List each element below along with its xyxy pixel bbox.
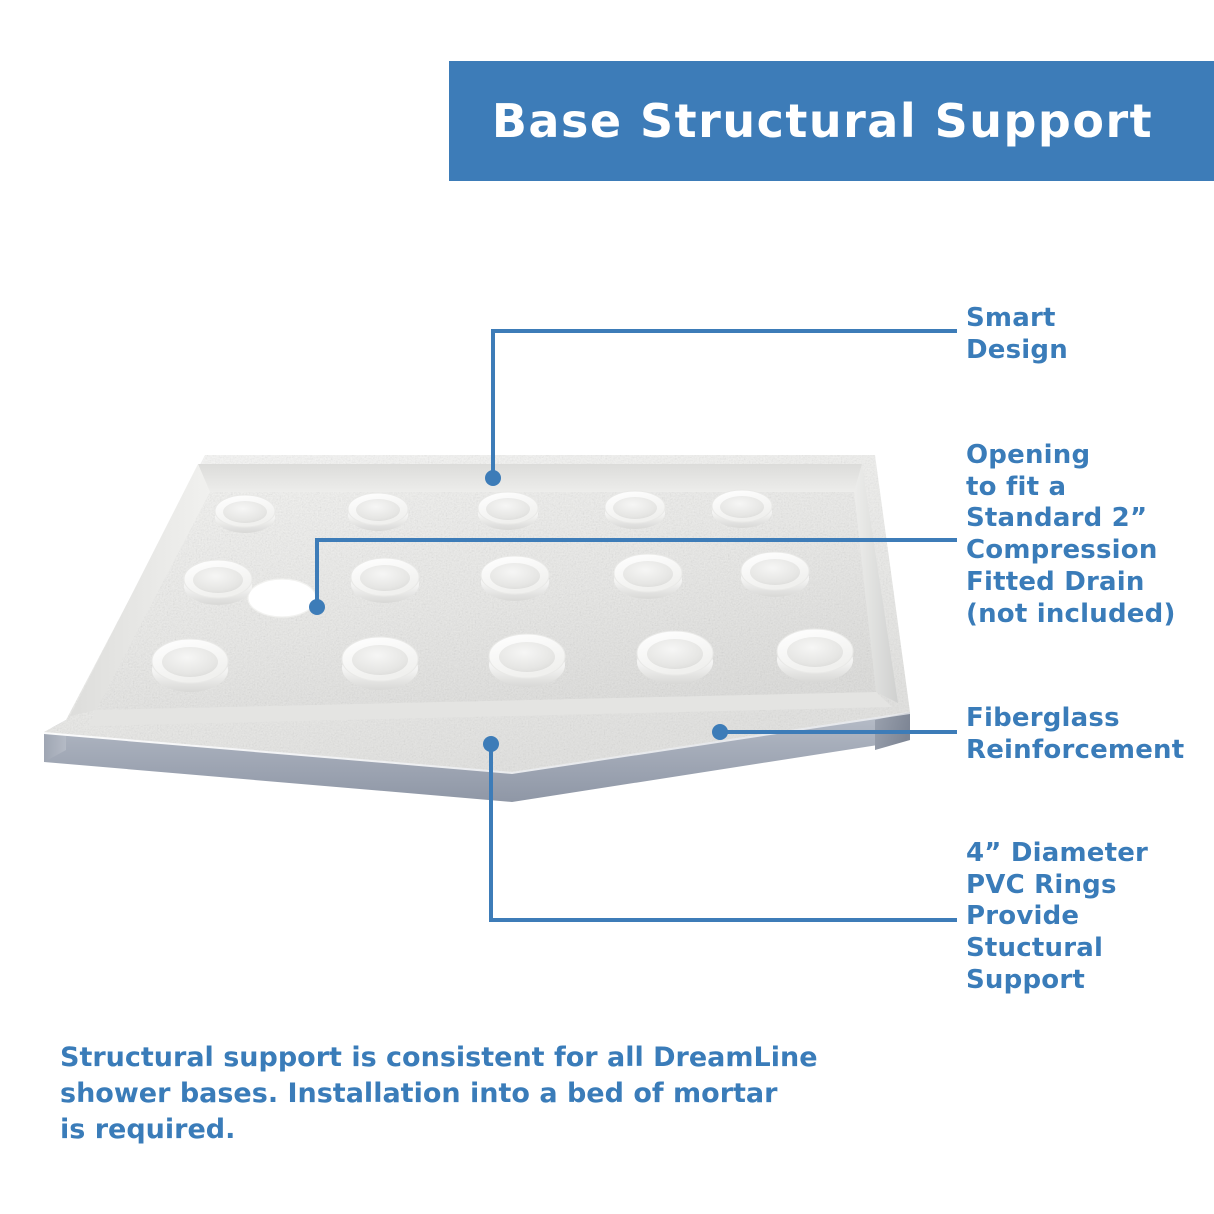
pvc-ring bbox=[741, 552, 809, 597]
pvc-ring bbox=[184, 560, 252, 605]
pvc-ring bbox=[605, 491, 665, 529]
page-title: Base Structural Support bbox=[492, 94, 1153, 148]
pvc-ring bbox=[342, 637, 418, 690]
pvc-ring bbox=[481, 556, 549, 601]
back-wall-inner bbox=[198, 464, 862, 492]
pvc-ring bbox=[777, 629, 853, 682]
pvc-ring bbox=[712, 490, 772, 528]
pvc-ring bbox=[215, 495, 275, 533]
pvc-ring bbox=[489, 634, 565, 687]
pvc-ring bbox=[637, 631, 713, 684]
callout-label-pvc-rings: 4” Diameter PVC Rings Provide Stuctural … bbox=[966, 838, 1206, 997]
pvc-ring bbox=[478, 492, 538, 530]
callout-label-smart-design: Smart Design bbox=[966, 303, 1206, 366]
pvc-ring bbox=[152, 639, 228, 692]
pvc-ring bbox=[614, 554, 682, 599]
callout-label-drain-opening: Opening to fit a Standard 2” Compression… bbox=[966, 440, 1210, 630]
footer-note: Structural support is consistent for all… bbox=[60, 1040, 820, 1148]
shower-base-illustration bbox=[30, 420, 940, 810]
pvc-ring bbox=[348, 493, 408, 531]
drain-opening bbox=[248, 579, 316, 617]
title-banner: Base Structural Support bbox=[449, 61, 1214, 181]
callout-label-fiberglass-reinforcement: Fiberglass Reinforcement bbox=[966, 703, 1212, 766]
shower-base-svg bbox=[30, 420, 940, 810]
pvc-ring bbox=[351, 558, 419, 603]
